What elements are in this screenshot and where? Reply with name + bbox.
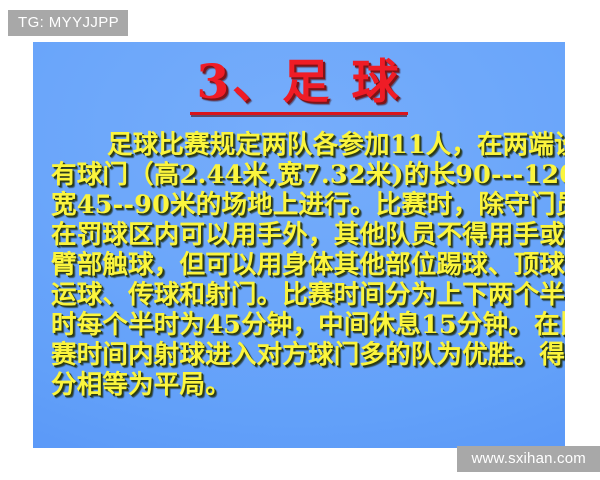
- body-line: 有球门（高2.44米,宽7.32米)的长90---120米、: [51, 160, 551, 190]
- tg-watermark-badge: TG: MYYJJPP: [8, 10, 128, 36]
- slide-title-container: 3、足 球: [33, 58, 565, 115]
- slide-body-text: 足球比赛规定两队各参加11人，在两端设 有球门（高2.44米,宽7.32米)的长…: [51, 130, 551, 400]
- body-line: 赛时间内射球进入对方球门多的队为优胜。得: [51, 340, 551, 370]
- body-line: 运球、传球和射门。比赛时间分为上下两个半: [51, 280, 551, 310]
- body-line: 分相等为平局。: [51, 370, 551, 400]
- site-watermark: www.sxihan.com: [457, 446, 600, 472]
- body-line: 臂部触球，但可以用身体其他部位踢球、顶球、: [51, 250, 551, 280]
- body-line: 在罚球区内可以用手外，其他队员不得用手或: [51, 220, 551, 250]
- body-line: 足球比赛规定两队各参加11人，在两端设: [51, 130, 551, 160]
- slide-title: 3、足 球: [190, 58, 407, 115]
- body-line: 宽45--90米的场地上进行。比赛时，除守门员: [51, 190, 551, 220]
- presentation-slide: 3、足 球 足球比赛规定两队各参加11人，在两端设 有球门（高2.44米,宽7.…: [33, 42, 565, 448]
- body-line: 时每个半时为45分钟，中间休息15分钟。在比: [51, 310, 551, 340]
